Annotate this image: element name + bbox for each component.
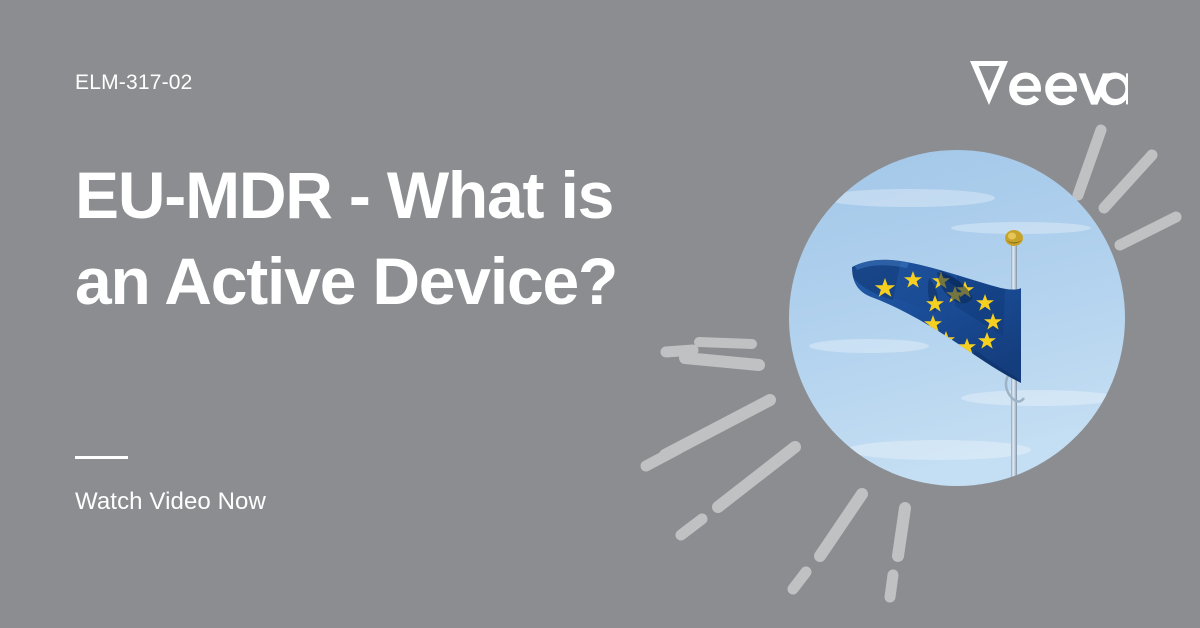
watch-video-link[interactable]: Watch Video Now: [75, 486, 266, 517]
course-code-label: ELM-317-02: [75, 70, 193, 95]
cta-divider: [75, 456, 128, 459]
veeva-logo: [968, 55, 1128, 109]
eu-flag-photo: [789, 150, 1125, 486]
promo-card: ELM-317-02 EU-MDR - What is an Active De…: [0, 0, 1200, 628]
page-title: EU-MDR - What is an Active Device?: [75, 152, 675, 324]
